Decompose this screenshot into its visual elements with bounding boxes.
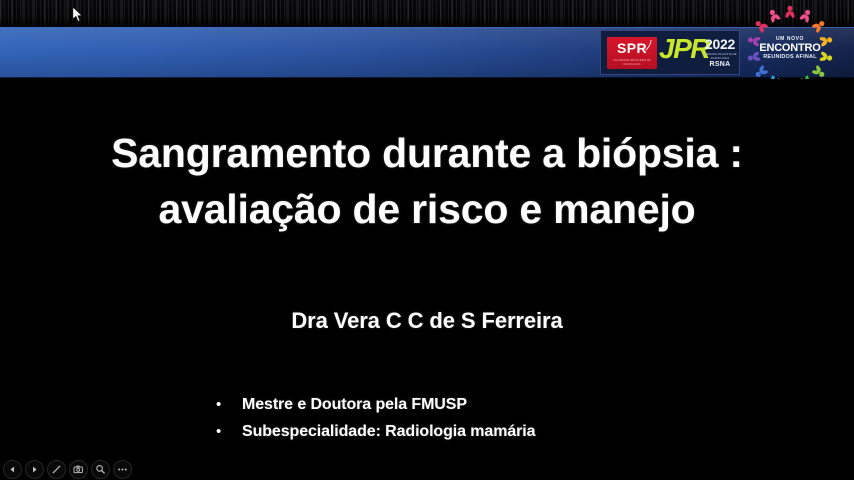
zoom-button[interactable]: [91, 460, 110, 479]
spr-logo: SPR SOCIEDADE BRASILEIRA DE RADIOLOGIA: [607, 37, 657, 69]
play-button[interactable]: [25, 460, 44, 479]
presentation-player: SPR SOCIEDADE BRASILEIRA DE RADIOLOGIA J…: [0, 0, 854, 480]
spr-jpr-logo-lockup: SPR SOCIEDADE BRASILEIRA DE RADIOLOGIA J…: [600, 30, 740, 75]
bullet-icon: •: [216, 395, 242, 415]
snapshot-button[interactable]: [69, 460, 88, 479]
jpr-year-subtitle: JORNADA PAULISTA DE RADIOLOGIA: [701, 52, 739, 60]
slide-title-line1: Sangramento durante a biópsia :: [111, 130, 743, 176]
previous-icon: [8, 465, 17, 474]
jpr-year-block: 2022 JORNADA PAULISTA DE RADIOLOGIA RSNA: [701, 37, 739, 69]
pen-button[interactable]: [47, 460, 66, 479]
spr-swoosh-icon: [645, 40, 652, 51]
slide-title: Sangramento durante a biópsia : avaliaçã…: [0, 125, 854, 237]
credentials-list: • Mestre e Doutora pela FMUSP • Subespec…: [216, 395, 776, 449]
ellipsis-icon: [117, 467, 128, 472]
presenter-name: Dra Vera C C de S Ferreira: [0, 307, 854, 335]
top-texture-strip: [0, 0, 854, 27]
mouse-cursor: [72, 6, 83, 23]
texture-fade: [0, 18, 854, 27]
list-item-label: Mestre e Doutora pela FMUSP: [242, 395, 467, 415]
previous-button[interactable]: [3, 460, 22, 479]
player-toolbar[interactable]: [3, 459, 132, 479]
rsna-affiliate-text: RSNA: [701, 61, 739, 69]
camera-icon: [73, 464, 84, 474]
list-item: • Subespecialidade: Radiologia mamária: [216, 422, 776, 442]
slide-title-line2: avaliação de risco e manejo: [0, 181, 854, 237]
list-item: • Mestre e Doutora pela FMUSP: [216, 395, 776, 415]
jpr-year: 2022: [701, 37, 739, 51]
magnifier-icon: [95, 464, 106, 475]
banner-top-edge: [0, 27, 854, 28]
more-button[interactable]: [113, 460, 132, 479]
slide-content: Sangramento durante a biópsia : avaliaçã…: [0, 79, 854, 480]
spr-logo-subtitle: SOCIEDADE BRASILEIRA DE RADIOLOGIA: [607, 59, 657, 66]
play-icon: [30, 465, 39, 474]
pen-icon: [51, 464, 62, 475]
bullet-icon: •: [216, 422, 242, 442]
list-item-label: Subespecialidade: Radiologia mamária: [242, 422, 535, 442]
